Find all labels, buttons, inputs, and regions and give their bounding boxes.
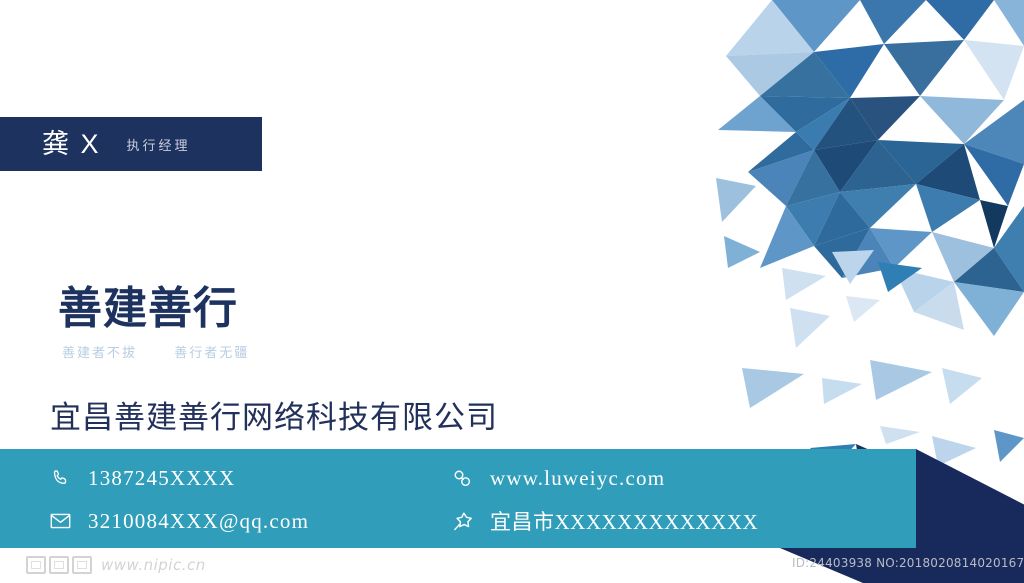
address-text: 宜昌市XXXXXXXXXXXXX — [490, 506, 758, 536]
contact-details: 1387245XXXX 3210084XXX@qq.com — [0, 449, 916, 548]
contact-row-phone[interactable]: 1387245XXXX — [50, 463, 452, 493]
contact-row-address[interactable]: 宜昌市XXXXXXXXXXXXX — [452, 506, 916, 536]
polygon-artwork — [664, 0, 1024, 470]
name-badge: 龚 X 执行经理 — [0, 117, 262, 171]
phone-number: 1387245XXXX — [88, 466, 235, 491]
location-pin-icon — [452, 510, 478, 532]
company-name: 宜昌善建善行网络科技有限公司 — [50, 392, 498, 437]
link-icon — [452, 467, 478, 489]
envelope-icon — [50, 510, 76, 532]
email-address: 3210084XXX@qq.com — [88, 509, 309, 534]
phone-icon — [50, 467, 76, 489]
corner-navy-shape — [916, 449, 1024, 548]
watermark-id-text: ID:24403938 NO:20180208140201677000 — [792, 556, 1024, 570]
website-url: www.luweiyc.com — [490, 466, 665, 491]
watermark-url: www.nipic.cn — [101, 556, 206, 574]
person-job-title: 执行经理 — [127, 135, 191, 154]
logo-wordmark: 善建善行 — [58, 286, 488, 332]
logo-slogan-right: 善行者无疆 — [174, 345, 249, 360]
watermark-glyph-1 — [26, 556, 46, 574]
logo-slogan-left: 善建者不拔 — [62, 345, 137, 360]
watermark-glyph-3 — [72, 556, 92, 574]
contact-column-left: 1387245XXXX 3210084XXX@qq.com — [0, 449, 452, 548]
business-card-canvas: 龚 X 执行经理 善建善行 善建者不拔 善行者无疆 宜昌善建善行网络科技有限公司… — [0, 0, 1024, 583]
watermark-logo: www.nipic.cn — [26, 556, 206, 574]
corner-navy-accent — [916, 449, 1024, 548]
contact-row-email[interactable]: 3210084XXX@qq.com — [50, 506, 452, 536]
watermark-logo-mark — [26, 556, 92, 574]
watermark-glyph-2 — [49, 556, 69, 574]
contact-row-website[interactable]: www.luweiyc.com — [452, 463, 916, 493]
watermark-id-bar: ID:24403938 NO:20180208140201677000 — [780, 548, 1024, 583]
logo-slogan: 善建者不拔 善行者无疆 — [62, 342, 488, 361]
contact-column-right: www.luweiyc.com 宜昌市XXXXXXXXXXXXX — [452, 449, 916, 548]
logo-block: 善建善行 善建者不拔 善行者无疆 — [58, 286, 488, 361]
person-name: 龚 X — [42, 131, 101, 158]
